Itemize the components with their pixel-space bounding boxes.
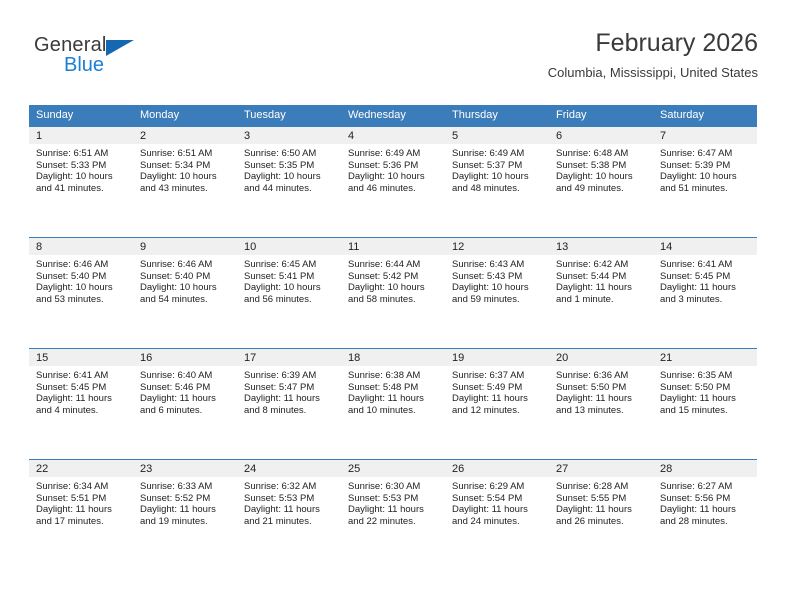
sunrise-text: Sunrise: 6:33 AM	[140, 481, 232, 493]
weekday-header-tuesday: Tuesday	[237, 105, 341, 127]
calendar-week-row: 22Sunrise: 6:34 AMSunset: 5:51 PMDayligh…	[29, 459, 757, 570]
sunrise-text: Sunrise: 6:27 AM	[660, 481, 752, 493]
day-number: 6	[549, 127, 653, 144]
calendar-day-cell[interactable]: 9Sunrise: 6:46 AMSunset: 5:40 PMDaylight…	[133, 238, 237, 348]
weekday-header-sunday: Sunday	[29, 105, 133, 127]
daylight-text: Daylight: 11 hours and 17 minutes.	[36, 504, 128, 527]
calendar-day-cell[interactable]: 10Sunrise: 6:45 AMSunset: 5:41 PMDayligh…	[237, 238, 341, 348]
sunrise-text: Sunrise: 6:46 AM	[140, 259, 232, 271]
day-number: 21	[653, 349, 757, 366]
calendar-day-cell[interactable]: 23Sunrise: 6:33 AMSunset: 5:52 PMDayligh…	[133, 460, 237, 570]
daylight-text: Daylight: 11 hours and 10 minutes.	[348, 393, 440, 416]
day-details: Sunrise: 6:37 AMSunset: 5:49 PMDaylight:…	[445, 366, 549, 416]
weekday-header-thursday: Thursday	[445, 105, 549, 127]
daylight-text: Daylight: 10 hours and 51 minutes.	[660, 171, 752, 194]
sunset-text: Sunset: 5:45 PM	[660, 271, 752, 283]
day-details: Sunrise: 6:34 AMSunset: 5:51 PMDaylight:…	[29, 477, 133, 527]
sunrise-text: Sunrise: 6:50 AM	[244, 148, 336, 160]
calendar-day-cell[interactable]: 20Sunrise: 6:36 AMSunset: 5:50 PMDayligh…	[549, 349, 653, 459]
calendar-grid: Sunday Monday Tuesday Wednesday Thursday…	[29, 105, 757, 570]
sunset-text: Sunset: 5:34 PM	[140, 160, 232, 172]
day-details: Sunrise: 6:33 AMSunset: 5:52 PMDaylight:…	[133, 477, 237, 527]
daylight-text: Daylight: 10 hours and 44 minutes.	[244, 171, 336, 194]
calendar-day-cell[interactable]: 5Sunrise: 6:49 AMSunset: 5:37 PMDaylight…	[445, 127, 549, 237]
daylight-text: Daylight: 10 hours and 59 minutes.	[452, 282, 544, 305]
sunset-text: Sunset: 5:39 PM	[660, 160, 752, 172]
daylight-text: Daylight: 10 hours and 58 minutes.	[348, 282, 440, 305]
day-number: 25	[341, 460, 445, 477]
logo-text-blue: Blue	[64, 54, 104, 76]
calendar-day-cell[interactable]: 14Sunrise: 6:41 AMSunset: 5:45 PMDayligh…	[653, 238, 757, 348]
sunrise-text: Sunrise: 6:39 AM	[244, 370, 336, 382]
sunrise-text: Sunrise: 6:51 AM	[36, 148, 128, 160]
calendar-day-cell[interactable]: 19Sunrise: 6:37 AMSunset: 5:49 PMDayligh…	[445, 349, 549, 459]
sunset-text: Sunset: 5:33 PM	[36, 160, 128, 172]
day-number: 13	[549, 238, 653, 255]
sunset-text: Sunset: 5:40 PM	[140, 271, 232, 283]
day-number: 3	[237, 127, 341, 144]
day-details: Sunrise: 6:28 AMSunset: 5:55 PMDaylight:…	[549, 477, 653, 527]
day-details: Sunrise: 6:49 AMSunset: 5:36 PMDaylight:…	[341, 144, 445, 194]
daylight-text: Daylight: 10 hours and 43 minutes.	[140, 171, 232, 194]
sunrise-text: Sunrise: 6:42 AM	[556, 259, 648, 271]
sunset-text: Sunset: 5:42 PM	[348, 271, 440, 283]
sunset-text: Sunset: 5:43 PM	[452, 271, 544, 283]
day-details: Sunrise: 6:39 AMSunset: 5:47 PMDaylight:…	[237, 366, 341, 416]
day-details: Sunrise: 6:29 AMSunset: 5:54 PMDaylight:…	[445, 477, 549, 527]
calendar-day-cell[interactable]: 1Sunrise: 6:51 AMSunset: 5:33 PMDaylight…	[29, 127, 133, 237]
sunset-text: Sunset: 5:35 PM	[244, 160, 336, 172]
day-details: Sunrise: 6:47 AMSunset: 5:39 PMDaylight:…	[653, 144, 757, 194]
calendar-day-cell[interactable]: 4Sunrise: 6:49 AMSunset: 5:36 PMDaylight…	[341, 127, 445, 237]
daylight-text: Daylight: 11 hours and 4 minutes.	[36, 393, 128, 416]
weekday-header-wednesday: Wednesday	[341, 105, 445, 127]
day-number: 17	[237, 349, 341, 366]
sunset-text: Sunset: 5:37 PM	[452, 160, 544, 172]
weekday-header-friday: Friday	[549, 105, 653, 127]
sunrise-text: Sunrise: 6:32 AM	[244, 481, 336, 493]
daylight-text: Daylight: 11 hours and 12 minutes.	[452, 393, 544, 416]
logo-triangle-icon	[106, 40, 134, 56]
day-number: 4	[341, 127, 445, 144]
calendar-day-cell[interactable]: 16Sunrise: 6:40 AMSunset: 5:46 PMDayligh…	[133, 349, 237, 459]
calendar-day-cell[interactable]: 25Sunrise: 6:30 AMSunset: 5:53 PMDayligh…	[341, 460, 445, 570]
page-subtitle: Columbia, Mississippi, United States	[548, 65, 758, 81]
calendar-week-row: 15Sunrise: 6:41 AMSunset: 5:45 PMDayligh…	[29, 348, 757, 459]
sunrise-text: Sunrise: 6:47 AM	[660, 148, 752, 160]
day-details: Sunrise: 6:41 AMSunset: 5:45 PMDaylight:…	[29, 366, 133, 416]
day-details: Sunrise: 6:36 AMSunset: 5:50 PMDaylight:…	[549, 366, 653, 416]
daylight-text: Daylight: 11 hours and 3 minutes.	[660, 282, 752, 305]
daylight-text: Daylight: 11 hours and 6 minutes.	[140, 393, 232, 416]
daylight-text: Daylight: 11 hours and 19 minutes.	[140, 504, 232, 527]
title-block: February 2026 Columbia, Mississippi, Uni…	[548, 28, 758, 81]
calendar-day-cell[interactable]: 15Sunrise: 6:41 AMSunset: 5:45 PMDayligh…	[29, 349, 133, 459]
calendar-day-cell[interactable]: 21Sunrise: 6:35 AMSunset: 5:50 PMDayligh…	[653, 349, 757, 459]
day-details: Sunrise: 6:40 AMSunset: 5:46 PMDaylight:…	[133, 366, 237, 416]
day-details: Sunrise: 6:44 AMSunset: 5:42 PMDaylight:…	[341, 255, 445, 305]
calendar-day-cell[interactable]: 7Sunrise: 6:47 AMSunset: 5:39 PMDaylight…	[653, 127, 757, 237]
sunset-text: Sunset: 5:49 PM	[452, 382, 544, 394]
sunrise-text: Sunrise: 6:35 AM	[660, 370, 752, 382]
sunset-text: Sunset: 5:47 PM	[244, 382, 336, 394]
sunset-text: Sunset: 5:48 PM	[348, 382, 440, 394]
calendar-day-cell[interactable]: 22Sunrise: 6:34 AMSunset: 5:51 PMDayligh…	[29, 460, 133, 570]
day-number: 8	[29, 238, 133, 255]
daylight-text: Daylight: 11 hours and 15 minutes.	[660, 393, 752, 416]
calendar-day-cell[interactable]: 26Sunrise: 6:29 AMSunset: 5:54 PMDayligh…	[445, 460, 549, 570]
sunset-text: Sunset: 5:46 PM	[140, 382, 232, 394]
sunset-text: Sunset: 5:53 PM	[348, 493, 440, 505]
day-details: Sunrise: 6:46 AMSunset: 5:40 PMDaylight:…	[29, 255, 133, 305]
calendar-day-cell[interactable]: 17Sunrise: 6:39 AMSunset: 5:47 PMDayligh…	[237, 349, 341, 459]
calendar-day-cell[interactable]: 13Sunrise: 6:42 AMSunset: 5:44 PMDayligh…	[549, 238, 653, 348]
day-details: Sunrise: 6:51 AMSunset: 5:33 PMDaylight:…	[29, 144, 133, 194]
calendar-page: General Blue February 2026 Columbia, Mis…	[0, 0, 792, 612]
day-details: Sunrise: 6:38 AMSunset: 5:48 PMDaylight:…	[341, 366, 445, 416]
day-number: 26	[445, 460, 549, 477]
day-details: Sunrise: 6:50 AMSunset: 5:35 PMDaylight:…	[237, 144, 341, 194]
calendar-weeks: 1Sunrise: 6:51 AMSunset: 5:33 PMDaylight…	[29, 127, 757, 570]
day-details: Sunrise: 6:42 AMSunset: 5:44 PMDaylight:…	[549, 255, 653, 305]
sunrise-text: Sunrise: 6:49 AM	[348, 148, 440, 160]
calendar-day-cell[interactable]: 11Sunrise: 6:44 AMSunset: 5:42 PMDayligh…	[341, 238, 445, 348]
sunset-text: Sunset: 5:56 PM	[660, 493, 752, 505]
daylight-text: Daylight: 11 hours and 8 minutes.	[244, 393, 336, 416]
day-number: 19	[445, 349, 549, 366]
sunrise-text: Sunrise: 6:41 AM	[36, 370, 128, 382]
daylight-text: Daylight: 10 hours and 53 minutes.	[36, 282, 128, 305]
day-details: Sunrise: 6:45 AMSunset: 5:41 PMDaylight:…	[237, 255, 341, 305]
day-number: 27	[549, 460, 653, 477]
daylight-text: Daylight: 11 hours and 26 minutes.	[556, 504, 648, 527]
weekday-header-monday: Monday	[133, 105, 237, 127]
daylight-text: Daylight: 10 hours and 46 minutes.	[348, 171, 440, 194]
daylight-text: Daylight: 11 hours and 21 minutes.	[244, 504, 336, 527]
day-number: 10	[237, 238, 341, 255]
day-number: 28	[653, 460, 757, 477]
sunrise-text: Sunrise: 6:38 AM	[348, 370, 440, 382]
day-number: 23	[133, 460, 237, 477]
calendar-day-cell[interactable]: 24Sunrise: 6:32 AMSunset: 5:53 PMDayligh…	[237, 460, 341, 570]
day-details: Sunrise: 6:51 AMSunset: 5:34 PMDaylight:…	[133, 144, 237, 194]
day-number: 9	[133, 238, 237, 255]
calendar-day-cell[interactable]: 2Sunrise: 6:51 AMSunset: 5:34 PMDaylight…	[133, 127, 237, 237]
sunrise-text: Sunrise: 6:37 AM	[452, 370, 544, 382]
day-details: Sunrise: 6:27 AMSunset: 5:56 PMDaylight:…	[653, 477, 757, 527]
calendar-week-row: 1Sunrise: 6:51 AMSunset: 5:33 PMDaylight…	[29, 127, 757, 237]
general-blue-logo[interactable]: General Blue	[34, 34, 154, 82]
calendar-day-cell[interactable]: 27Sunrise: 6:28 AMSunset: 5:55 PMDayligh…	[549, 460, 653, 570]
day-number: 5	[445, 127, 549, 144]
sunset-text: Sunset: 5:40 PM	[36, 271, 128, 283]
day-details: Sunrise: 6:32 AMSunset: 5:53 PMDaylight:…	[237, 477, 341, 527]
calendar-week-row: 8Sunrise: 6:46 AMSunset: 5:40 PMDaylight…	[29, 237, 757, 348]
sunrise-text: Sunrise: 6:30 AM	[348, 481, 440, 493]
sunrise-text: Sunrise: 6:41 AM	[660, 259, 752, 271]
sunrise-text: Sunrise: 6:28 AM	[556, 481, 648, 493]
day-details: Sunrise: 6:46 AMSunset: 5:40 PMDaylight:…	[133, 255, 237, 305]
sunrise-text: Sunrise: 6:49 AM	[452, 148, 544, 160]
sunrise-text: Sunrise: 6:51 AM	[140, 148, 232, 160]
day-number: 18	[341, 349, 445, 366]
sunset-text: Sunset: 5:41 PM	[244, 271, 336, 283]
daylight-text: Daylight: 11 hours and 13 minutes.	[556, 393, 648, 416]
day-details: Sunrise: 6:30 AMSunset: 5:53 PMDaylight:…	[341, 477, 445, 527]
daylight-text: Daylight: 11 hours and 24 minutes.	[452, 504, 544, 527]
sunset-text: Sunset: 5:50 PM	[556, 382, 648, 394]
page-title: February 2026	[548, 28, 758, 58]
daylight-text: Daylight: 11 hours and 28 minutes.	[660, 504, 752, 527]
day-number: 20	[549, 349, 653, 366]
calendar-day-cell[interactable]: 12Sunrise: 6:43 AMSunset: 5:43 PMDayligh…	[445, 238, 549, 348]
sunrise-text: Sunrise: 6:45 AM	[244, 259, 336, 271]
sunset-text: Sunset: 5:36 PM	[348, 160, 440, 172]
calendar-day-cell[interactable]: 6Sunrise: 6:48 AMSunset: 5:38 PMDaylight…	[549, 127, 653, 237]
daylight-text: Daylight: 10 hours and 54 minutes.	[140, 282, 232, 305]
weekday-header-saturday: Saturday	[653, 105, 757, 127]
sunset-text: Sunset: 5:53 PM	[244, 493, 336, 505]
sunset-text: Sunset: 5:51 PM	[36, 493, 128, 505]
day-number: 1	[29, 127, 133, 144]
day-number: 7	[653, 127, 757, 144]
day-number: 14	[653, 238, 757, 255]
daylight-text: Daylight: 10 hours and 48 minutes.	[452, 171, 544, 194]
day-details: Sunrise: 6:35 AMSunset: 5:50 PMDaylight:…	[653, 366, 757, 416]
day-number: 12	[445, 238, 549, 255]
calendar-day-cell[interactable]: 8Sunrise: 6:46 AMSunset: 5:40 PMDaylight…	[29, 238, 133, 348]
sunset-text: Sunset: 5:52 PM	[140, 493, 232, 505]
daylight-text: Daylight: 10 hours and 56 minutes.	[244, 282, 336, 305]
sunset-text: Sunset: 5:44 PM	[556, 271, 648, 283]
day-details: Sunrise: 6:43 AMSunset: 5:43 PMDaylight:…	[445, 255, 549, 305]
sunset-text: Sunset: 5:38 PM	[556, 160, 648, 172]
day-number: 15	[29, 349, 133, 366]
sunrise-text: Sunrise: 6:44 AM	[348, 259, 440, 271]
calendar-day-cell[interactable]: 3Sunrise: 6:50 AMSunset: 5:35 PMDaylight…	[237, 127, 341, 237]
calendar-day-cell[interactable]: 18Sunrise: 6:38 AMSunset: 5:48 PMDayligh…	[341, 349, 445, 459]
sunrise-text: Sunrise: 6:48 AM	[556, 148, 648, 160]
day-number: 11	[341, 238, 445, 255]
day-number: 22	[29, 460, 133, 477]
sunrise-text: Sunrise: 6:29 AM	[452, 481, 544, 493]
daylight-text: Daylight: 11 hours and 1 minute.	[556, 282, 648, 305]
sunrise-text: Sunrise: 6:43 AM	[452, 259, 544, 271]
logo-text-general: General	[34, 34, 107, 56]
page-header: General Blue February 2026 Columbia, Mis…	[34, 28, 758, 100]
daylight-text: Daylight: 11 hours and 22 minutes.	[348, 504, 440, 527]
sunset-text: Sunset: 5:54 PM	[452, 493, 544, 505]
sunset-text: Sunset: 5:55 PM	[556, 493, 648, 505]
weekday-header-row: Sunday Monday Tuesday Wednesday Thursday…	[29, 105, 757, 127]
daylight-text: Daylight: 10 hours and 49 minutes.	[556, 171, 648, 194]
sunset-text: Sunset: 5:45 PM	[36, 382, 128, 394]
calendar-day-cell[interactable]: 28Sunrise: 6:27 AMSunset: 5:56 PMDayligh…	[653, 460, 757, 570]
sunrise-text: Sunrise: 6:34 AM	[36, 481, 128, 493]
sunrise-text: Sunrise: 6:36 AM	[556, 370, 648, 382]
daylight-text: Daylight: 10 hours and 41 minutes.	[36, 171, 128, 194]
day-details: Sunrise: 6:49 AMSunset: 5:37 PMDaylight:…	[445, 144, 549, 194]
day-number: 2	[133, 127, 237, 144]
sunrise-text: Sunrise: 6:40 AM	[140, 370, 232, 382]
day-details: Sunrise: 6:41 AMSunset: 5:45 PMDaylight:…	[653, 255, 757, 305]
day-number: 16	[133, 349, 237, 366]
day-details: Sunrise: 6:48 AMSunset: 5:38 PMDaylight:…	[549, 144, 653, 194]
sunset-text: Sunset: 5:50 PM	[660, 382, 752, 394]
day-number: 24	[237, 460, 341, 477]
sunrise-text: Sunrise: 6:46 AM	[36, 259, 128, 271]
